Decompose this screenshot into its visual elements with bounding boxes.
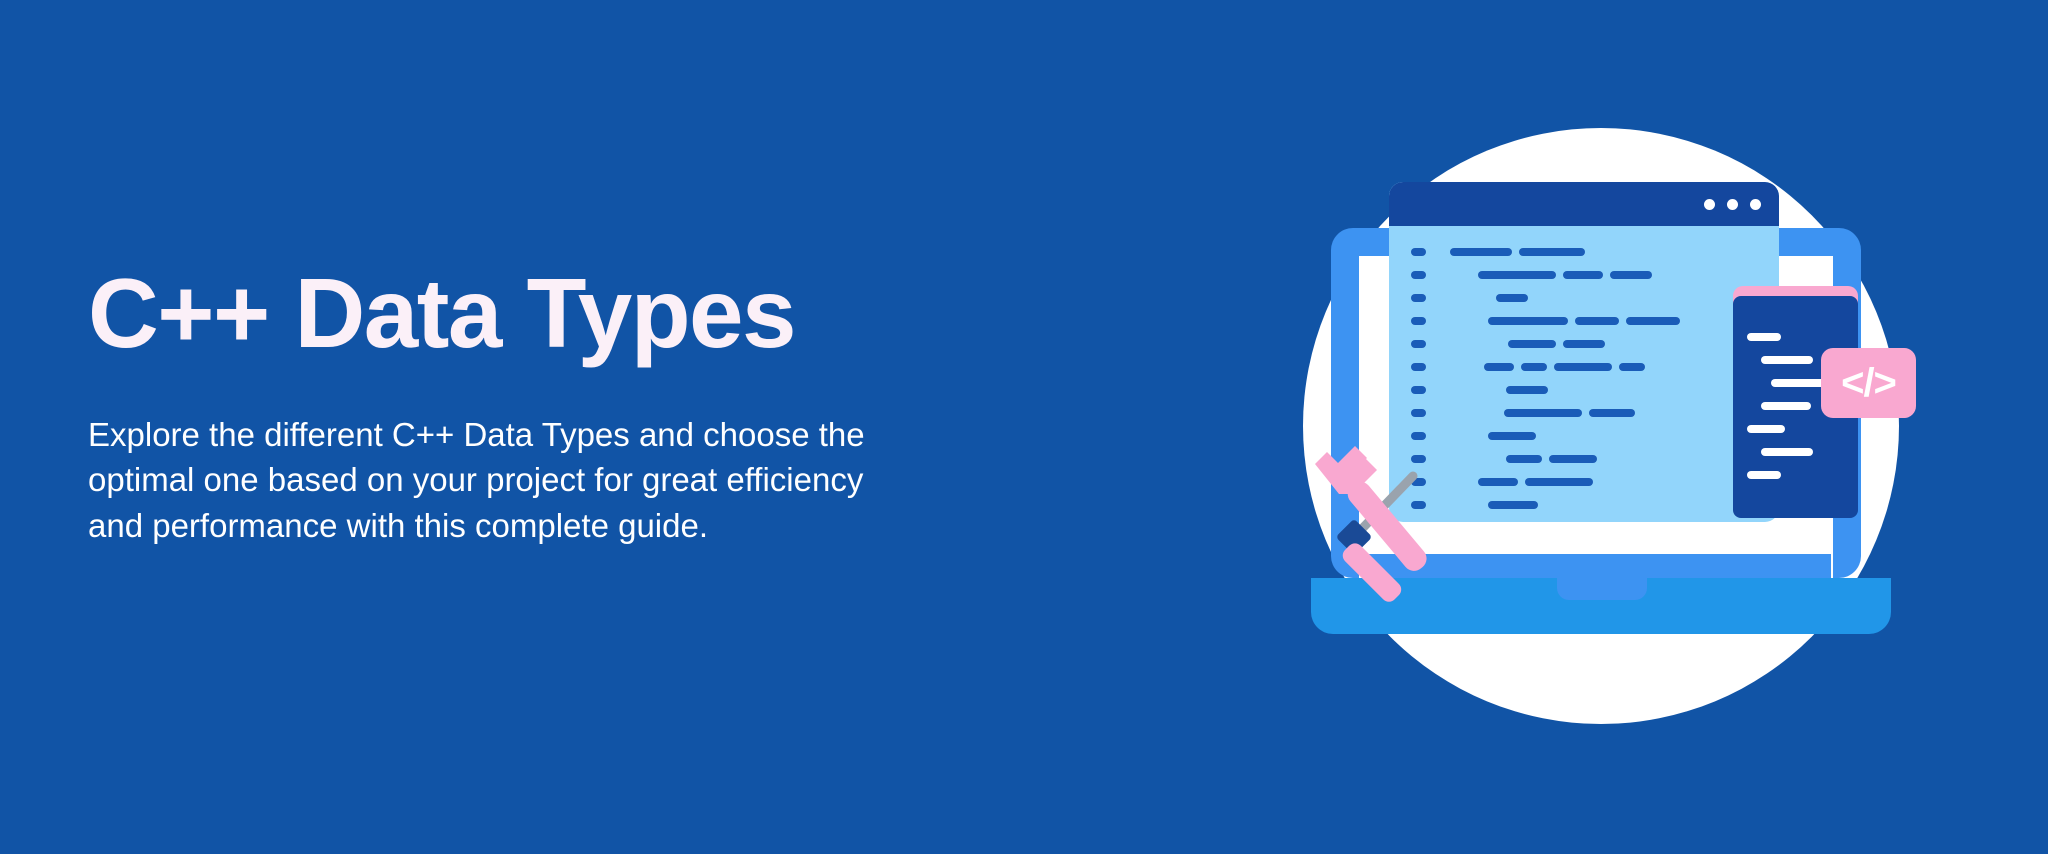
code-gutter-bullet-icon bbox=[1411, 317, 1426, 325]
code-segment bbox=[1563, 340, 1605, 348]
document-line bbox=[1747, 425, 1785, 433]
code-segment bbox=[1496, 294, 1528, 302]
code-gutter-bullet-icon bbox=[1411, 271, 1426, 279]
code-segments bbox=[1488, 432, 1536, 440]
code-segment bbox=[1478, 271, 1556, 279]
code-segment bbox=[1488, 432, 1536, 440]
document-line bbox=[1761, 402, 1811, 410]
code-gutter-bullet-icon bbox=[1411, 248, 1426, 256]
hero-subtitle: Explore the different C++ Data Types and… bbox=[88, 412, 1098, 549]
code-segments bbox=[1450, 248, 1585, 256]
code-line bbox=[1389, 332, 1779, 355]
code-segment bbox=[1554, 363, 1612, 371]
code-tag-icon: </> bbox=[1841, 363, 1896, 403]
code-segment bbox=[1484, 363, 1514, 371]
tools-group bbox=[1293, 428, 1473, 618]
page-title: C++ Data Types bbox=[88, 262, 1108, 366]
code-gutter-bullet-icon bbox=[1411, 340, 1426, 348]
code-gutter-bullet-icon bbox=[1411, 363, 1426, 371]
code-segments bbox=[1488, 501, 1538, 509]
code-segments bbox=[1506, 455, 1597, 463]
code-segments bbox=[1484, 363, 1645, 371]
code-segments bbox=[1506, 386, 1548, 394]
code-segments bbox=[1496, 294, 1528, 302]
code-gutter-bullet-icon bbox=[1411, 294, 1426, 302]
code-segment bbox=[1519, 248, 1585, 256]
code-line bbox=[1389, 240, 1779, 263]
code-line bbox=[1389, 378, 1779, 401]
document-line bbox=[1747, 333, 1781, 341]
subtitle-line: Explore the different C++ Data Types and… bbox=[88, 412, 1098, 458]
code-segments bbox=[1478, 271, 1652, 279]
code-segment bbox=[1589, 409, 1635, 417]
window-dot-icon bbox=[1750, 199, 1761, 210]
document-line bbox=[1747, 471, 1781, 479]
code-segment bbox=[1626, 317, 1680, 325]
code-segment bbox=[1478, 478, 1518, 486]
code-segment bbox=[1506, 455, 1542, 463]
hero-text-block: C++ Data Types Explore the different C++… bbox=[88, 262, 1108, 548]
document-line bbox=[1761, 356, 1813, 364]
document-line bbox=[1761, 448, 1813, 456]
code-segment bbox=[1549, 455, 1597, 463]
code-gutter-bullet-icon bbox=[1411, 409, 1426, 417]
subtitle-line: and performance with this complete guide… bbox=[88, 503, 1098, 549]
coding-illustration: </> bbox=[1303, 128, 1903, 728]
code-segment bbox=[1619, 363, 1645, 371]
code-segments bbox=[1478, 478, 1593, 486]
code-segment bbox=[1521, 363, 1547, 371]
code-segment bbox=[1575, 317, 1619, 325]
code-segment bbox=[1450, 248, 1512, 256]
window-dot-icon bbox=[1704, 199, 1715, 210]
code-line bbox=[1389, 401, 1779, 424]
code-line bbox=[1389, 286, 1779, 309]
code-segment bbox=[1504, 409, 1582, 417]
code-segments bbox=[1504, 409, 1635, 417]
code-line bbox=[1389, 263, 1779, 286]
code-window-titlebar bbox=[1389, 182, 1779, 226]
banner-root: C++ Data Types Explore the different C++… bbox=[0, 0, 2048, 854]
laptop-trackpad-notch bbox=[1557, 578, 1647, 600]
code-segment bbox=[1488, 317, 1568, 325]
code-segment bbox=[1508, 340, 1556, 348]
code-badge: </> bbox=[1821, 348, 1916, 418]
code-line bbox=[1389, 355, 1779, 378]
window-dot-icon bbox=[1727, 199, 1738, 210]
code-segments bbox=[1508, 340, 1605, 348]
code-segment bbox=[1525, 478, 1593, 486]
code-segment bbox=[1488, 501, 1538, 509]
window-controls bbox=[1704, 199, 1761, 210]
code-segment bbox=[1610, 271, 1652, 279]
code-segment bbox=[1563, 271, 1603, 279]
code-line bbox=[1389, 309, 1779, 332]
subtitle-line: optimal one based on your project for gr… bbox=[88, 457, 1098, 503]
code-gutter-bullet-icon bbox=[1411, 386, 1426, 394]
wrench-icon bbox=[1315, 446, 1431, 575]
code-segment bbox=[1506, 386, 1548, 394]
code-segments bbox=[1488, 317, 1680, 325]
